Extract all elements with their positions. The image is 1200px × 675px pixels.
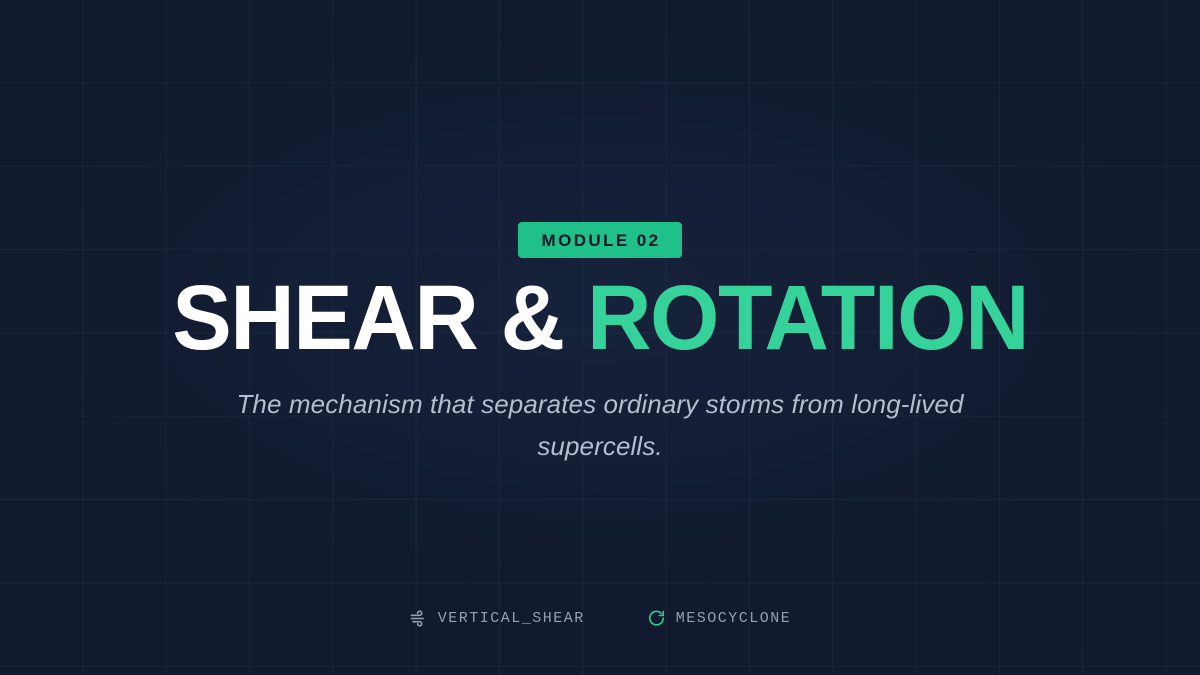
module-badge: MODULE 02 — [518, 222, 683, 258]
title-primary-text: SHEAR & — [172, 267, 587, 369]
title-accent-text: ROTATION — [587, 267, 1028, 369]
slide-content: MODULE 02 SHEAR & ROTATION The mechanism… — [0, 0, 1200, 675]
slide-canvas: MODULE 02 SHEAR & ROTATION The mechanism… — [0, 0, 1200, 675]
subtitle: The mechanism that separates ordinary st… — [220, 384, 980, 467]
badge-row: MODULE 02 — [518, 222, 683, 258]
page-title: SHEAR & ROTATION — [172, 272, 1028, 364]
